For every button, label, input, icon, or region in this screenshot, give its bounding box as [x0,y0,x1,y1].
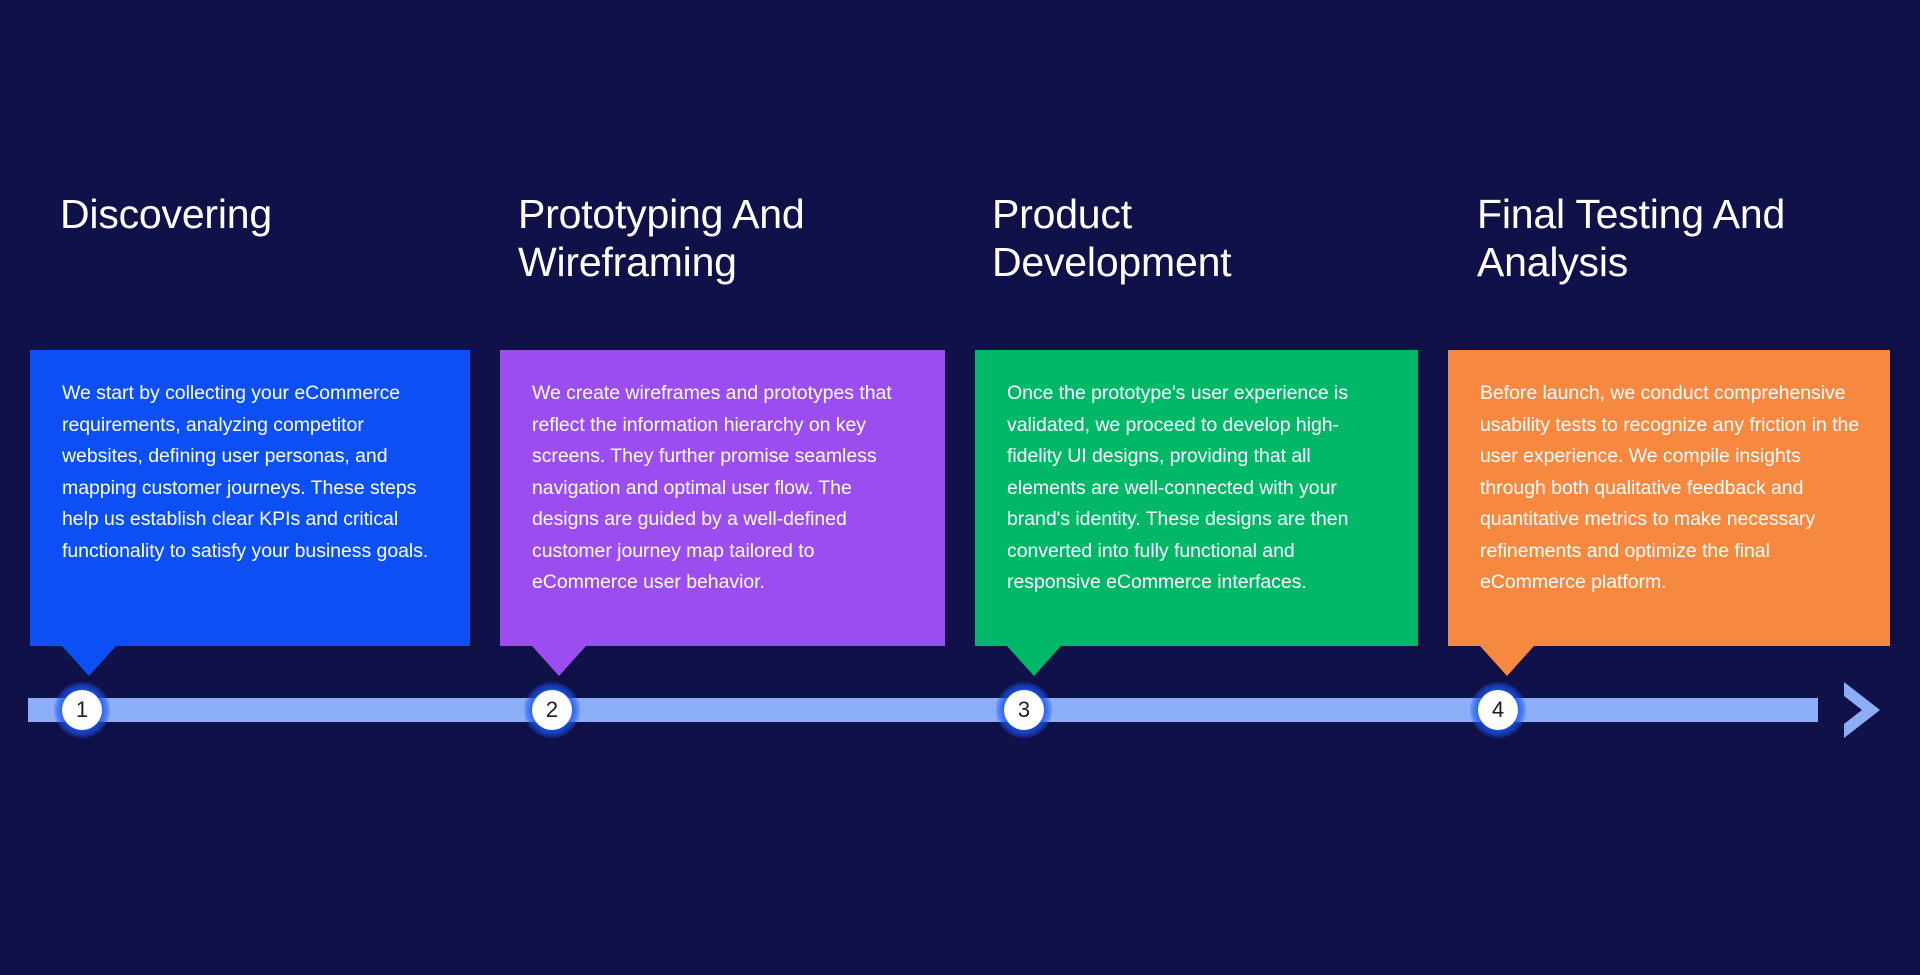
node-number-2: 2 [532,690,572,730]
arrow-right-icon [1828,678,1892,742]
step-description-3: Once the prototype's user experience is … [1007,378,1388,599]
step-description-1: We start by collecting your eCommerce re… [62,378,440,567]
step-card-4-pointer [1480,646,1534,676]
timeline-node-2[interactable]: 2 [524,682,580,738]
step-card-4[interactable]: Before launch, we conduct comprehensive … [1448,350,1890,646]
step-card-3-pointer [1007,646,1061,676]
timeline-node-1[interactable]: 1 [54,682,110,738]
step-card-4-body: Before launch, we conduct comprehensive … [1448,350,1890,646]
timeline-track [28,698,1818,722]
timeline-node-3[interactable]: 3 [996,682,1052,738]
timeline-node-4[interactable]: 4 [1470,682,1526,738]
step-card-3-body: Once the prototype's user experience is … [975,350,1418,646]
step-card-2[interactable]: We create wireframes and prototypes that… [500,350,945,646]
step-card-2-pointer [532,646,586,676]
step-card-3[interactable]: Once the prototype's user experience is … [975,350,1418,646]
node-number-1: 1 [62,690,102,730]
process-timeline: 1 2 3 4 [28,698,1892,722]
step-card-1-body: We start by collecting your eCommerce re… [30,350,470,646]
step-description-4: Before launch, we conduct comprehensive … [1480,378,1860,599]
step-heading-4: Final Testing And Analysis [1477,190,1837,287]
step-card-1[interactable]: We start by collecting your eCommerce re… [30,350,470,646]
node-number-4: 4 [1478,690,1518,730]
step-card-1-pointer [62,646,116,676]
infographic-stage: Discovering Prototyping And Wireframing … [0,0,1920,975]
step-heading-1: Discovering [60,190,460,238]
step-heading-2: Prototyping And Wireframing [518,190,898,287]
step-description-2: We create wireframes and prototypes that… [532,378,915,599]
step-card-2-body: We create wireframes and prototypes that… [500,350,945,646]
node-number-3: 3 [1004,690,1044,730]
step-heading-3: Product Development [992,190,1372,287]
